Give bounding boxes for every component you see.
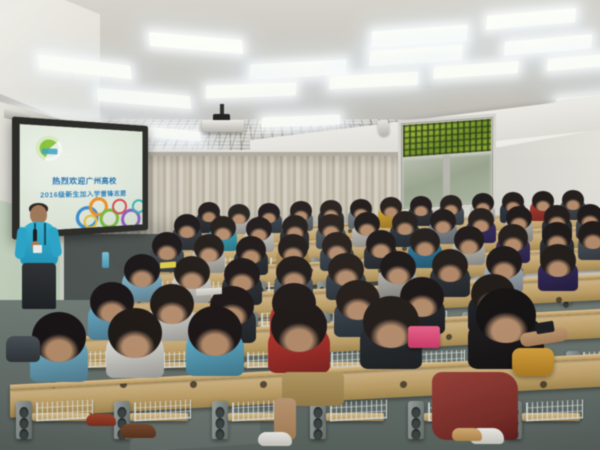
seat-metal-standard — [408, 401, 424, 439]
brown-sandal — [120, 424, 156, 438]
tan-handbag — [512, 348, 554, 376]
standard-oval-cutout — [314, 407, 323, 418]
desk-panel-hole — [556, 297, 562, 303]
attendee-front-red-polo — [268, 300, 330, 378]
red-loafer — [86, 414, 116, 426]
presenter-dark-trousers — [22, 263, 56, 309]
attendee-head — [188, 306, 242, 356]
seat-metal-standard — [310, 401, 326, 439]
attendee-head — [271, 300, 327, 352]
wire-book-basket — [36, 400, 93, 422]
white-sneaker — [258, 432, 292, 446]
attendee-front-blue — [186, 306, 244, 381]
standard-oval-cutout — [314, 429, 323, 440]
attendee-front-white — [106, 308, 164, 383]
standard-oval-cutout — [20, 429, 29, 440]
standard-oval-cutout — [216, 418, 225, 429]
backpack-on-floor — [6, 336, 40, 362]
standard-oval-cutout — [412, 429, 421, 440]
seat-metal-standard — [212, 401, 228, 439]
presenter-id-badge — [33, 245, 42, 253]
desk-panel-hole — [400, 381, 407, 388]
standard-oval-cutout — [20, 418, 29, 429]
standard-oval-cutout — [412, 418, 421, 429]
wire-book-basket — [526, 400, 583, 422]
lecture-hall-photograph: 热烈欢迎广州高校 2016级新生加入学雷锋志愿 — [0, 0, 600, 450]
attendee-row3-9 — [538, 244, 578, 294]
attendee-head — [578, 221, 600, 249]
standard-oval-cutout — [564, 301, 569, 308]
desk-panel-hole — [540, 381, 547, 388]
standard-oval-cutout — [412, 407, 421, 418]
desk-panel-hole — [190, 381, 197, 388]
wire-book-basket — [134, 400, 191, 422]
yellow-notepad — [160, 261, 176, 268]
tiered-seating-and-audience — [0, 0, 600, 450]
attendee-head — [540, 244, 576, 277]
attendee-head — [108, 308, 162, 358]
standard-oval-cutout — [314, 418, 323, 429]
desk-panel-hole — [260, 381, 267, 388]
seat-metal-standard — [16, 401, 32, 439]
standard-oval-cutout — [20, 407, 29, 418]
attendee-head — [32, 312, 86, 362]
standard-oval-cutout — [216, 407, 225, 418]
pink-bag-in-basket — [408, 326, 440, 348]
standard-oval-cutout — [216, 429, 225, 440]
attendee-row4-11 — [578, 221, 600, 263]
presenter-with-microphone — [18, 205, 64, 315]
tan-sandal — [452, 428, 482, 441]
standard-oval-cutout — [118, 407, 127, 418]
water-bottle-on-desk — [102, 252, 109, 268]
